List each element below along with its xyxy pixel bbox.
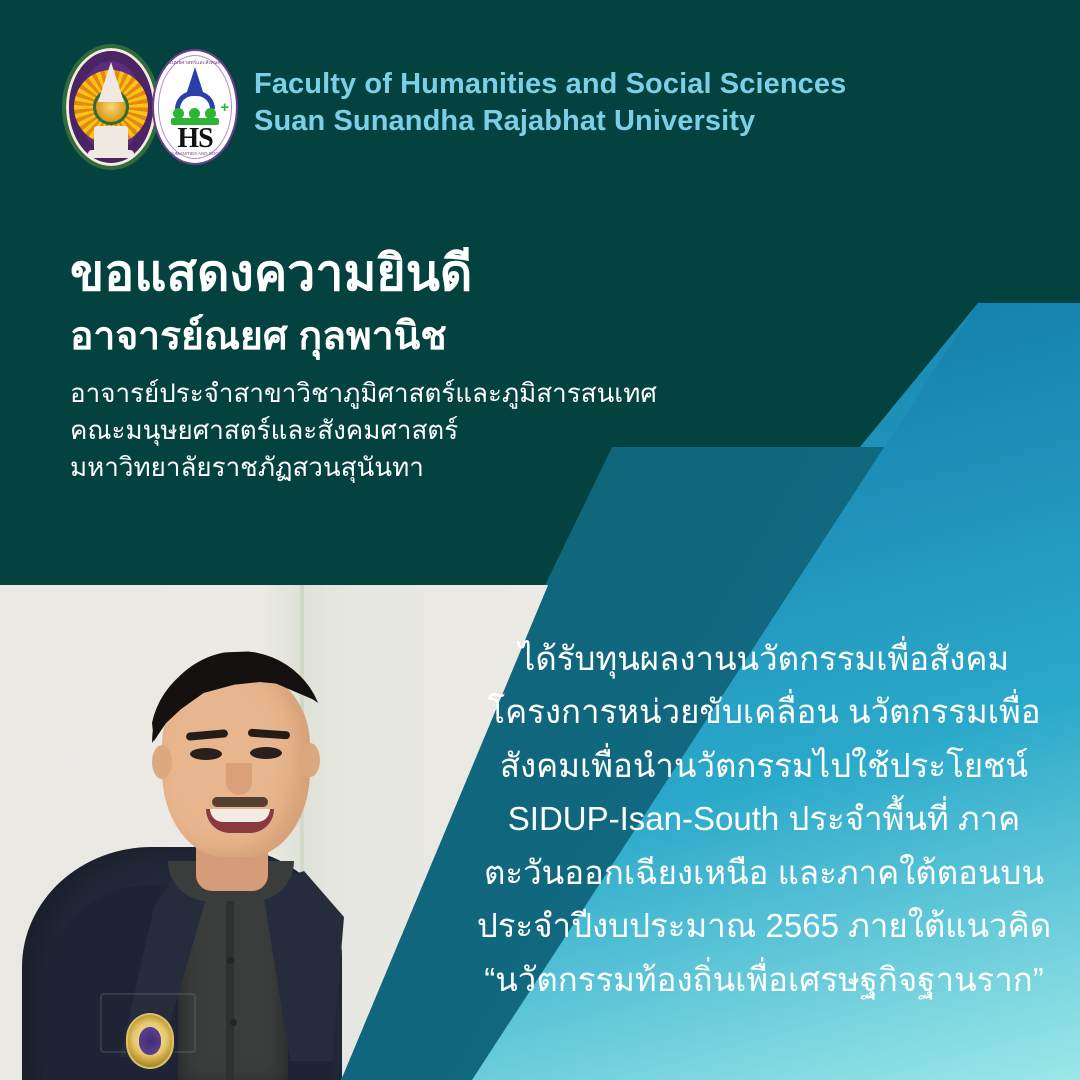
ssru-university-seal-icon xyxy=(62,44,160,170)
shirt-button-upper xyxy=(227,957,234,964)
award-line-6: ประจำปีงบประมาณ 2565 ภายใต้แนวคิด xyxy=(470,899,1058,952)
teeth xyxy=(210,809,270,822)
award-line-5: ตะวันออกเฉียงเหนือ และภาคใต้ตอนบน xyxy=(470,846,1058,899)
award-line-2: โครงการหน่วยขับเคลื่อน นวัตกรรมเพื่อ xyxy=(470,685,1058,738)
award-description: ได้รับทุนผลงานนวัตกรรมเพื่อสังคม โครงการ… xyxy=(470,632,1058,1006)
congratulation-heading: ขอแสดงความยินดี xyxy=(70,246,472,301)
honoree-affiliation: อาจารย์ประจำสาขาวิชาภูมิศาสตร์และภูมิสาร… xyxy=(70,375,657,486)
header-line-university: Suan Sunandha Rajabhat University xyxy=(254,103,846,140)
ear-left xyxy=(152,745,172,779)
faculty-seal-icon: คณะมนุษยศาสตร์และสังคมศาสตร์ + HS FACULT… xyxy=(152,49,238,165)
shirt-button-lower xyxy=(230,1019,237,1026)
organization-header: Faculty of Humanities and Social Science… xyxy=(254,66,846,140)
shirt-placket xyxy=(226,885,234,1080)
faculty-seal-letters: HS xyxy=(177,125,212,153)
affiliation-line-faculty: คณะมนุษยศาสตร์และสังคมศาสตร์ xyxy=(70,412,657,449)
moustache xyxy=(212,797,268,807)
faculty-seal-ring-text-top: คณะมนุษยศาสตร์และสังคมศาสตร์ xyxy=(158,59,233,67)
seal-crown-icon xyxy=(98,62,124,102)
award-line-7: “นวัตกรรมท้องถิ่นเพื่อเศรษฐกิจฐานราก” xyxy=(470,953,1058,1006)
header-line-faculty: Faculty of Humanities and Social Science… xyxy=(254,66,846,103)
award-line-1: ได้รับทุนผลงานนวัตกรรมเพื่อสังคม xyxy=(470,632,1058,685)
blazer-emblem-icon xyxy=(126,1013,174,1069)
affiliation-line-university: มหาวิทยาลัยราชภัฏสวนสุนันทา xyxy=(70,449,657,486)
ear-right xyxy=(300,743,320,777)
faculty-seal-ring-text-bottom: FACULTY OF HUMANITIES AND SOCIAL SCIENCE… xyxy=(152,151,238,156)
eye-left xyxy=(190,748,222,760)
eye-right xyxy=(250,747,282,759)
honoree-name: อาจารย์ณยศ กุลพานิช xyxy=(70,315,447,360)
seal-pedestal xyxy=(94,126,128,152)
faculty-seal-plus-icon: + xyxy=(220,99,229,116)
poster-canvas: คณะมนุษยศาสตร์และสังคมศาสตร์ + HS FACULT… xyxy=(0,0,1080,1080)
award-line-3: สังคมเพื่อนำนวัตกรรมไปใช้ประโยชน์ xyxy=(470,739,1058,792)
affiliation-line-department: อาจารย์ประจำสาขาวิชาภูมิศาสตร์และภูมิสาร… xyxy=(70,375,657,412)
nose xyxy=(226,763,252,795)
award-line-4: SIDUP-Isan-South ประจำพื้นที่ ภาค xyxy=(470,792,1058,845)
logo-group: คณะมนุษยศาสตร์และสังคมศาสตร์ + HS FACULT… xyxy=(62,44,238,170)
